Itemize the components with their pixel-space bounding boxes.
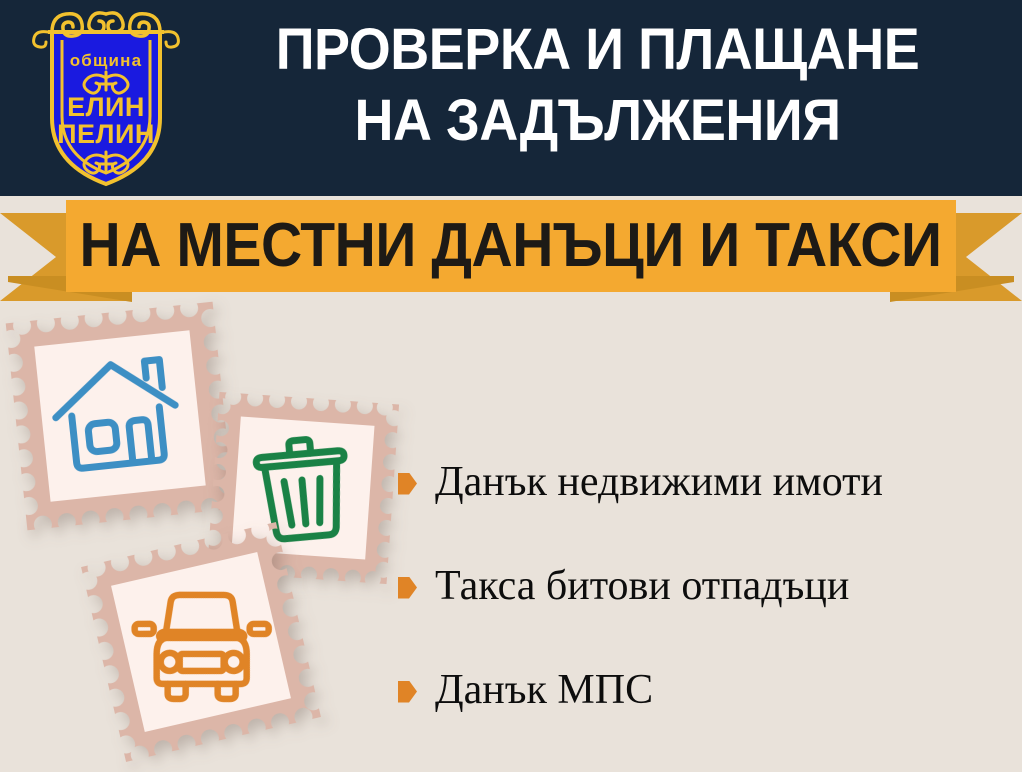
- ribbon-band: НА МЕСТНИ ДАНЪЦИ И ТАКСИ: [66, 200, 956, 292]
- subtitle-ribbon: НА МЕСТНИ ДАНЪЦИ И ТАКСИ: [0, 200, 1022, 302]
- list-item-label: Такса битови отпадъци: [435, 563, 849, 609]
- list-item[interactable]: Данък недвижими имоти: [398, 430, 1008, 534]
- stamp-card-property-tax: [6, 302, 235, 531]
- svg-text:община: община: [70, 51, 143, 70]
- svg-text:ЕЛИН: ЕЛИН: [67, 92, 145, 122]
- list-item[interactable]: Данък МПС: [398, 638, 1008, 742]
- page-title-line-1: ПРОВЕРКА И ПЛАЩАНЕ: [219, 14, 977, 85]
- poster-root: община ЕЛИН ПЕЛИН: [0, 0, 1022, 772]
- list-item-label: Данък недвижими имоти: [435, 459, 883, 505]
- bullet-arrow-icon: [398, 681, 417, 703]
- ribbon-text: НА МЕСТНИ ДАНЪЦИ И ТАКСИ: [80, 215, 942, 277]
- list-item-label: Данък МПС: [435, 667, 653, 713]
- bullet-arrow-icon: [398, 473, 417, 495]
- bullet-arrow-icon: [398, 577, 417, 599]
- list-item[interactable]: Такса битови отпадъци: [398, 534, 1008, 638]
- page-title-line-2: НА ЗАДЪЛЖЕНИЯ: [219, 85, 977, 156]
- page-title: ПРОВЕРКА И ПЛАЩАНЕ НА ЗАДЪЛЖЕНИЯ: [219, 14, 977, 156]
- tax-type-list: Данък недвижими имоти Такса битови отпад…: [398, 430, 1008, 742]
- svg-text:ПЕЛИН: ПЕЛИН: [57, 119, 155, 149]
- coat-of-arms-icon: община ЕЛИН ПЕЛИН: [28, 6, 184, 191]
